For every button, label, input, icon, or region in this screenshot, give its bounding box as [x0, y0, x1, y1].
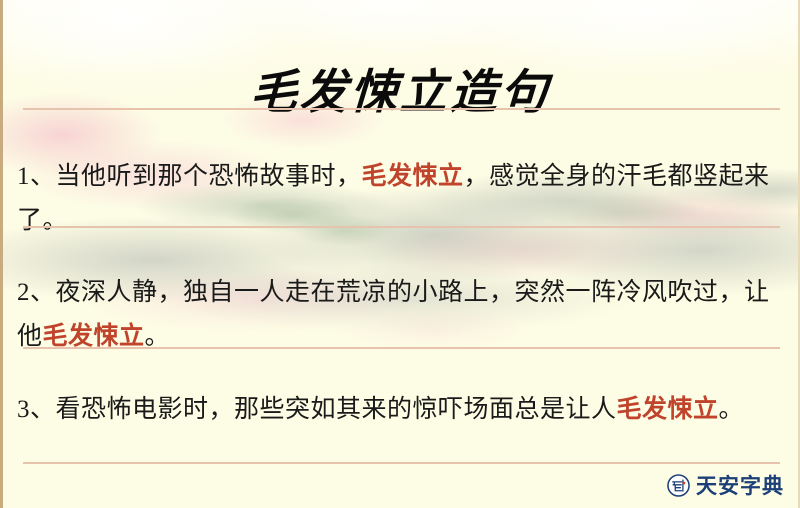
sentence-2-number: 2、 [17, 279, 56, 306]
sentence-3-before: 看恐怖电影时，那些突如其来的惊吓场面总是让人 [56, 396, 617, 423]
sentence-2-after: 。 [145, 323, 171, 350]
example-sentence-2: 2、夜深人静，独自一人走在荒凉的小路上，突然一阵冷风吹过，让他毛发悚立。 [17, 271, 782, 359]
page-title: 毛发悚立造句 [1, 53, 800, 122]
divider-2 [23, 347, 780, 349]
sentence-1-idiom: 毛发悚立 [362, 163, 464, 190]
sentence-3-idiom: 毛发悚立 [617, 396, 719, 423]
divider-bottom [23, 462, 780, 464]
sentence-2-idiom: 毛发悚立 [43, 323, 145, 350]
sentence-3-after: 。 [719, 396, 745, 423]
example-sentence-3: 3、看恐怖电影时，那些突如其来的惊吓场面总是让人毛发悚立。 [17, 388, 782, 432]
example-sentence-1: 1、当他听到那个恐怖故事时，毛发悚立，感觉全身的汗毛都竖起来了。 [17, 155, 782, 243]
sentence-1-before: 当他听到那个恐怖故事时， [56, 163, 362, 190]
divider-top [23, 108, 780, 110]
site-logo[interactable]: 天安字典 [667, 470, 784, 500]
sentence-1-number: 1、 [17, 163, 56, 190]
site-logo-text: 天安字典 [696, 470, 784, 500]
divider-1 [23, 226, 780, 228]
page-root: 毛发悚立造句 1、当他听到那个恐怖故事时，毛发悚立，感觉全身的汗毛都竖起来了。 … [0, 0, 800, 508]
seal-circle-icon [667, 474, 690, 497]
sentence-3-number: 3、 [17, 396, 56, 423]
content-area: 毛发悚立造句 1、当他听到那个恐怖故事时，毛发悚立，感觉全身的汗毛都竖起来了。 … [3, 0, 798, 508]
